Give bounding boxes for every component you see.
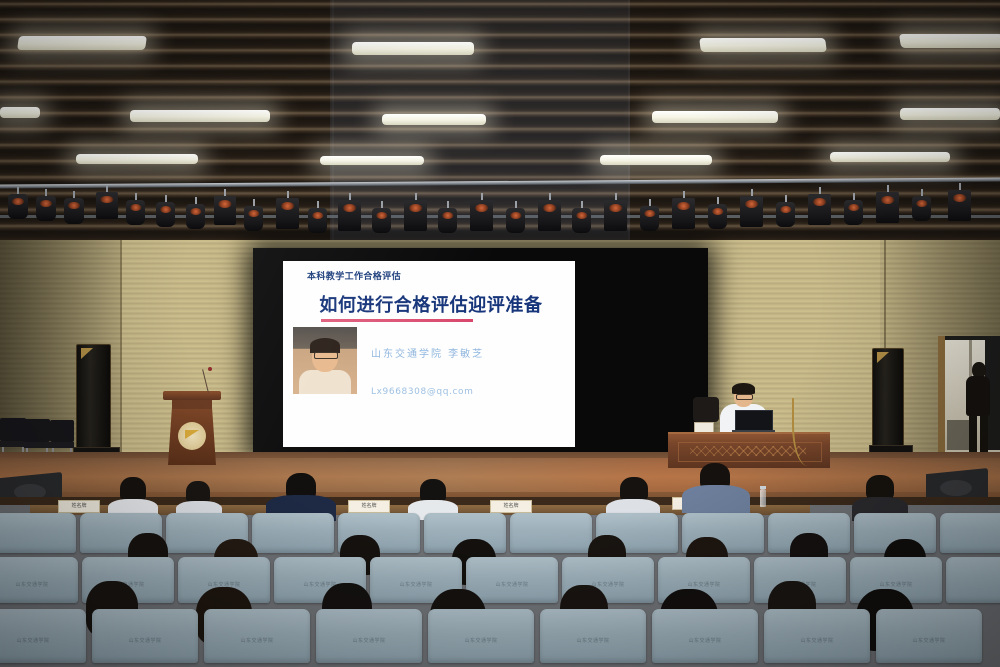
stage-light	[156, 195, 175, 227]
stage-light	[808, 187, 831, 225]
auditorium-seat: 山东交通学院	[466, 557, 558, 603]
podium	[163, 381, 221, 465]
lecture-hall-photo: 本科教学工作合格评估 如何进行合格评估迎评准备 山东交通学院 李敏芝 Lx966…	[0, 0, 1000, 667]
attendee-shoulders	[682, 485, 750, 513]
chair-seat	[24, 442, 50, 448]
loudspeaker-tower-right	[872, 348, 904, 450]
stage-light	[276, 191, 299, 229]
speaker-corner-accent	[877, 352, 889, 363]
auditorium-seat	[510, 513, 592, 553]
stage-light	[214, 189, 236, 225]
stage-light	[948, 183, 971, 221]
lamp-lens	[12, 198, 24, 205]
stage-light	[538, 193, 561, 231]
stage-light	[876, 185, 899, 223]
stage-light	[186, 197, 205, 229]
speaker-chair	[693, 397, 719, 422]
ceiling-light-panel	[0, 107, 40, 118]
stage-light	[708, 197, 727, 229]
speaker-corner-accent	[81, 348, 93, 359]
stage-floor-reflection	[0, 458, 1000, 492]
seat-logo: 山东交通学院	[464, 637, 497, 644]
ceiling-light-panel	[130, 110, 270, 122]
auditorium-seat	[0, 513, 76, 553]
seat-logo: 山东交通学院	[495, 581, 528, 588]
ceiling-light-panel	[699, 38, 827, 52]
water-bottle	[760, 489, 766, 507]
screen-glare	[253, 248, 708, 458]
seat-logo: 山东交通学院	[879, 581, 912, 588]
ceiling-light-panel	[899, 34, 1000, 48]
ceiling-light-panel	[76, 154, 198, 164]
ceiling-light-panel	[320, 156, 424, 165]
auditorium-seat: 山东交通学院	[764, 609, 870, 663]
stage-light	[740, 189, 763, 227]
stage-light	[604, 193, 627, 231]
seat-logo: 山东交通学院	[352, 637, 385, 644]
ceiling-light-panel	[352, 42, 474, 55]
person-leg	[969, 415, 977, 452]
auditorium-seat: 山东交通学院	[316, 609, 422, 663]
stage-light	[506, 201, 525, 233]
auditorium-seat	[252, 513, 334, 553]
seat-logo: 山东交通学院	[688, 637, 721, 644]
auditorium-seat: 山东交通学院	[428, 609, 534, 663]
stage-light	[404, 193, 427, 231]
speaker-glasses	[736, 394, 753, 400]
stage-light	[308, 201, 327, 233]
chair-back	[24, 419, 50, 442]
stage-light	[672, 191, 695, 229]
projection-screen: 本科教学工作合格评估 如何进行合格评估迎评准备 山东交通学院 李敏芝 Lx966…	[253, 248, 708, 458]
seat-logo: 山东交通学院	[576, 637, 609, 644]
chair-seat	[0, 441, 26, 447]
name-card: 姓名牌	[58, 500, 100, 513]
stage-light	[8, 187, 28, 219]
auditorium-seat: 山东交通学院	[876, 609, 982, 663]
stage-light	[244, 199, 263, 231]
seat-logo: 山东交通学院	[912, 637, 945, 644]
auditorium-seat	[946, 557, 1000, 603]
auditorium-seat	[940, 513, 1000, 553]
stage-light	[372, 201, 391, 233]
speaker-hair	[732, 383, 755, 394]
auditorium-seat: 山东交通学院	[92, 609, 198, 663]
stage-light	[844, 193, 863, 225]
person-leg	[980, 415, 988, 452]
stage-light	[470, 193, 493, 231]
seat-logo: 山东交通学院	[399, 581, 432, 588]
lamp-lens	[40, 200, 52, 207]
loudspeaker-tower-left	[76, 344, 111, 452]
stage-light	[338, 193, 361, 231]
seat-logo: 山东交通学院	[687, 581, 720, 588]
chair-seat	[50, 442, 74, 448]
stage-light	[438, 201, 457, 233]
ceiling-light-panel	[17, 36, 147, 50]
auditorium-seat: 山东交通学院	[204, 609, 310, 663]
stage-light	[126, 193, 145, 225]
truss-pipe	[0, 178, 1000, 189]
stage-light	[776, 195, 795, 227]
seat-logo: 山东交通学院	[15, 581, 48, 588]
ceiling-light-panel	[600, 155, 712, 165]
podium-top	[163, 391, 221, 400]
stage-light	[912, 189, 931, 221]
lamp-lens	[218, 200, 231, 208]
chair-back	[0, 418, 26, 441]
stage-light	[96, 185, 118, 219]
seat-logo: 山东交通学院	[16, 637, 49, 644]
seat-logo: 山东交通学院	[240, 637, 273, 644]
stage-light	[640, 199, 659, 231]
name-card: 姓名牌	[348, 500, 390, 513]
name-card: 姓名牌	[490, 500, 532, 513]
auditorium-seat: 山东交通学院	[652, 609, 758, 663]
person-torso	[966, 376, 990, 416]
stage-light	[572, 201, 591, 233]
emblem-mark-icon	[185, 430, 199, 439]
stage-light	[64, 191, 84, 224]
microphone-head-icon	[208, 367, 212, 371]
ceiling-light-panel	[382, 114, 486, 125]
auditorium-seat: 山东交通学院	[0, 557, 78, 603]
lighting-truss	[0, 175, 1000, 270]
auditorium-seat: 山东交通学院	[540, 609, 646, 663]
bottle-cap	[760, 486, 766, 489]
podium-neck	[172, 400, 212, 409]
speaker-cone	[940, 480, 972, 496]
desk-carving	[690, 446, 806, 456]
audience-seating: 姓名牌 姓名牌 姓名牌 姓名牌	[0, 505, 1000, 667]
stage-light	[36, 189, 56, 221]
auditorium-seat: 山东交通学院	[0, 609, 86, 663]
chair-back	[50, 420, 74, 442]
ceiling-light-panel	[830, 152, 950, 162]
seat-logo: 山东交通学院	[800, 637, 833, 644]
seat-logo: 山东交通学院	[128, 637, 161, 644]
ceiling-light-panel	[900, 108, 1000, 120]
ceiling-light-panel	[652, 111, 778, 123]
